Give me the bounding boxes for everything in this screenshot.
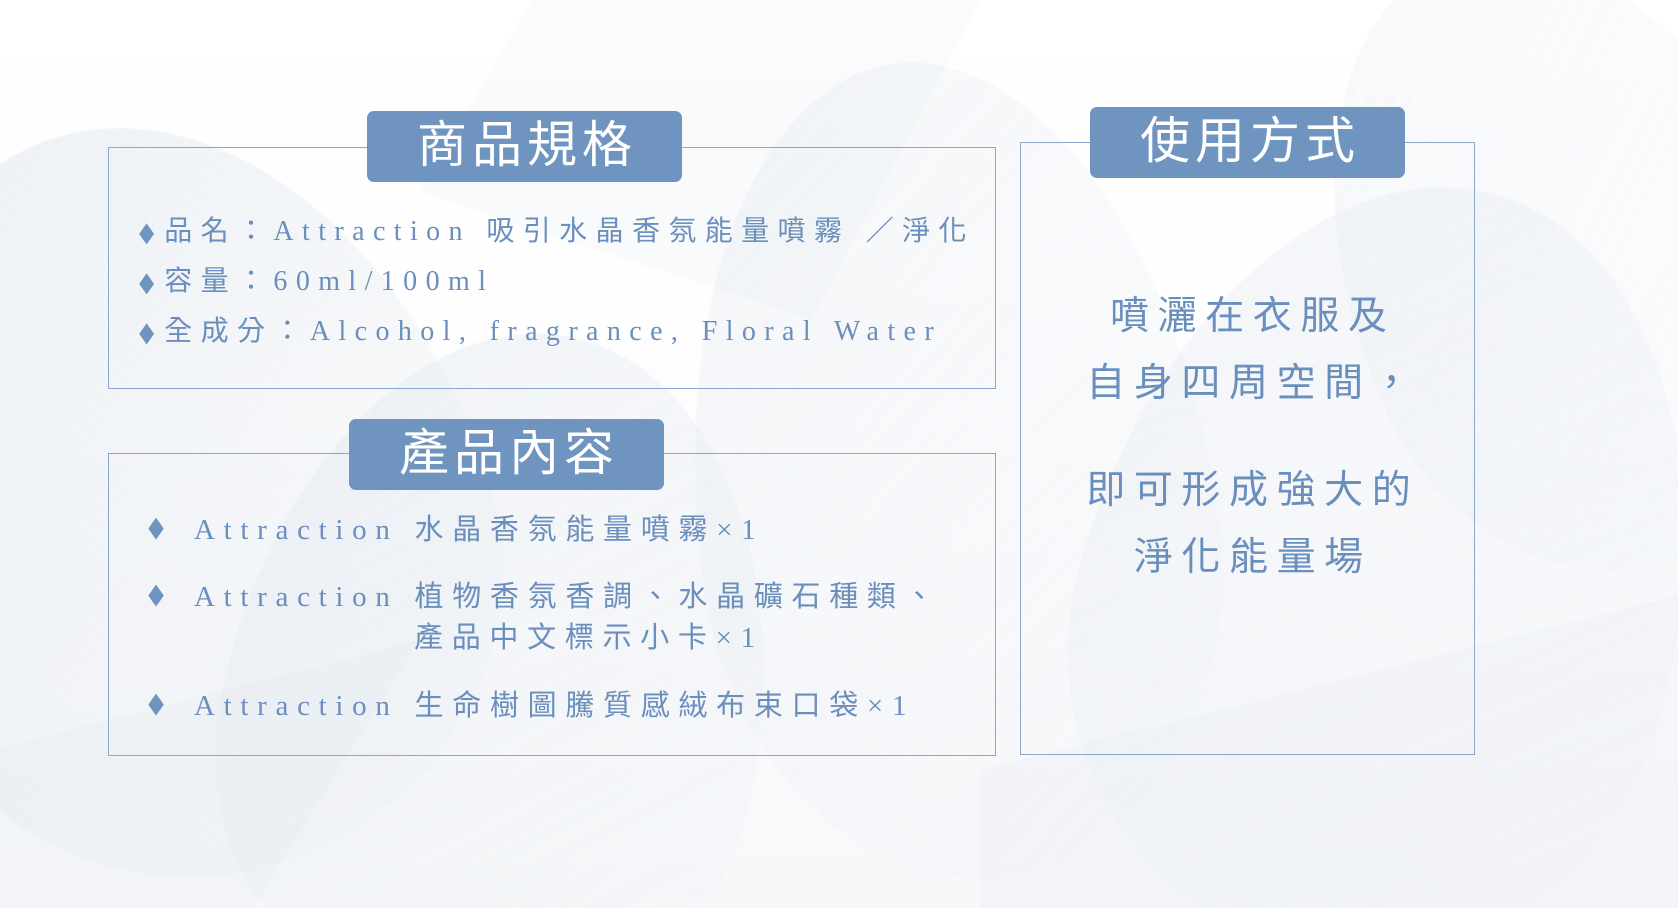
usage-text-block: 噴灑在衣服及 自身四周空間， 即可形成強大的 淨化能量場 <box>1021 283 1476 591</box>
diamond-bullet-icon: ◆ <box>139 219 154 247</box>
spec-list: ◆ 品名：Attraction 吸引水晶香氛能量噴霧 ／淨化 ◆ 容量：60ml… <box>137 214 987 349</box>
usage-line: 噴灑在衣服及 <box>1021 283 1476 350</box>
content-row: ◆ Attraction 生命樹圖騰質感絨布束口袋×1 <box>146 686 986 727</box>
spec-row-text: 容量：60ml/100ml <box>164 264 494 300</box>
content-row-main: Attraction 植物香氛香調、水晶礦石種類、 <box>194 581 942 613</box>
usage-line: 淨化能量場 <box>1021 524 1476 591</box>
diamond-bullet-icon: ◆ <box>148 513 164 542</box>
usage-method-badge: 使用方式 <box>1090 107 1405 178</box>
content-row-main: Attraction 生命樹圖騰質感絨布束口袋×1 <box>194 690 915 722</box>
content-row: ◆ Attraction 植物香氛香調、水晶礦石種類、 產品中文標示小卡×1 <box>146 577 986 659</box>
right-column: 噴灑在衣服及 自身四周空間， 即可形成強大的 淨化能量場 使用方式 <box>1020 0 1475 908</box>
spec-row: ◆ 全成分：Alcohol, fragrance, Floral Water <box>137 314 987 350</box>
usage-method-card: 噴灑在衣服及 自身四周空間， 即可形成強大的 淨化能量場 <box>1020 142 1475 755</box>
usage-line: 即可形成強大的 <box>1021 457 1476 524</box>
diamond-bullet-icon: ◆ <box>139 318 154 346</box>
spec-row: ◆ 容量：60ml/100ml <box>137 264 987 300</box>
content-row-main: Attraction 水晶香氛能量噴霧×1 <box>194 514 764 546</box>
spec-row-text: 全成分：Alcohol, fragrance, Floral Water <box>164 314 942 350</box>
diamond-bullet-icon: ◆ <box>148 580 164 609</box>
usage-line: 自身四周空間， <box>1021 350 1476 417</box>
content-row-sub: 產品中文標示小卡×1 <box>194 618 942 659</box>
content-row-text: Attraction 生命樹圖騰質感絨布束口袋×1 <box>194 686 915 727</box>
content-row-text: Attraction 水晶香氛能量噴霧×1 <box>194 510 764 551</box>
product-spec-badge: 商品規格 <box>367 111 682 182</box>
left-column: ◆ 品名：Attraction 吸引水晶香氛能量噴霧 ／淨化 ◆ 容量：60ml… <box>108 0 996 908</box>
content-row-text: Attraction 植物香氛香調、水晶礦石種類、 產品中文標示小卡×1 <box>194 577 942 659</box>
product-content-badge: 產品內容 <box>349 419 664 490</box>
spec-row-text: 品名：Attraction 吸引水晶香氛能量噴霧 ／淨化 <box>164 214 975 250</box>
product-spec-card: ◆ 品名：Attraction 吸引水晶香氛能量噴霧 ／淨化 ◆ 容量：60ml… <box>108 147 996 389</box>
spec-row: ◆ 品名：Attraction 吸引水晶香氛能量噴霧 ／淨化 <box>137 214 987 250</box>
diamond-bullet-icon: ◆ <box>139 269 154 297</box>
page-root: ◆ 品名：Attraction 吸引水晶香氛能量噴霧 ／淨化 ◆ 容量：60ml… <box>0 0 1678 908</box>
usage-line-gap <box>1021 417 1476 457</box>
diamond-bullet-icon: ◆ <box>148 688 164 717</box>
content-row: ◆ Attraction 水晶香氛能量噴霧×1 <box>146 510 986 551</box>
content-list: ◆ Attraction 水晶香氛能量噴霧×1 ◆ Attraction 植物香… <box>146 510 986 727</box>
product-content-card: ◆ Attraction 水晶香氛能量噴霧×1 ◆ Attraction 植物香… <box>108 453 996 756</box>
